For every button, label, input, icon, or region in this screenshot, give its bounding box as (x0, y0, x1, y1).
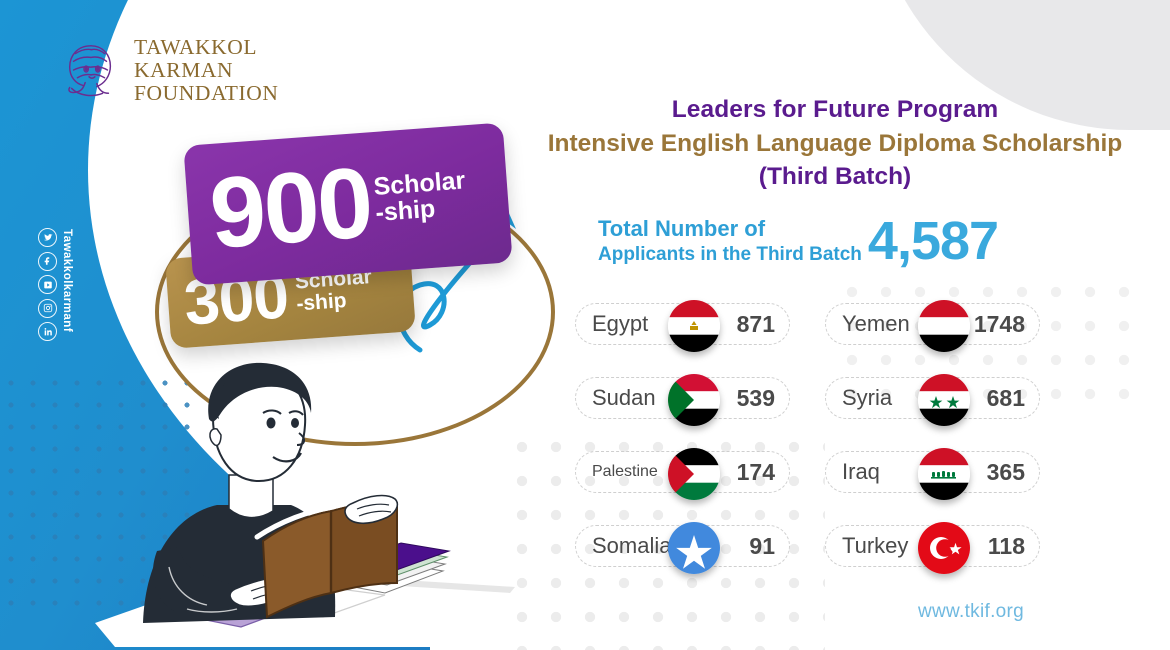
country-pill-syria: Syria 681 (825, 377, 1040, 419)
instagram-icon[interactable] (38, 299, 57, 318)
somalia-flag-icon (668, 522, 720, 574)
country-name-syria: Syria (826, 385, 892, 411)
logo-line-3: FOUNDATION (134, 82, 279, 105)
yemen-flag-icon (918, 300, 970, 352)
country-count-egypt: 871 (737, 311, 775, 338)
logo-wordmark: TAWAKKOL KARMAN FOUNDATION (134, 36, 279, 105)
country-pill-iraq: Iraq 365 (825, 451, 1040, 493)
country-count-syria: 681 (987, 385, 1025, 412)
country-name-somalia: Somalia (576, 533, 671, 559)
syria-flag-icon (918, 374, 970, 426)
badge-300-label-line2: -ship (296, 288, 374, 316)
country-name-turkey: Turkey (826, 533, 908, 559)
country-pill-somalia: Somalia 91 (575, 525, 790, 567)
social-icon-list (38, 228, 57, 341)
country-count-sudan: 539 (737, 385, 775, 412)
program-batch: (Third Batch) (530, 163, 1140, 191)
social-media-rail: Tawakkolkarmanf (38, 228, 73, 341)
turkey-flag-icon (918, 522, 970, 574)
country-name-yemen: Yemen (826, 311, 910, 337)
facebook-icon[interactable] (38, 252, 57, 271)
country-name-sudan: Sudan (576, 385, 656, 411)
linkedin-icon[interactable] (38, 322, 57, 341)
badge-900-number: 900 (207, 155, 374, 262)
country-count-somalia: 91 (749, 533, 775, 560)
palestine-flag-icon (668, 448, 720, 500)
sudan-flag-icon (668, 374, 720, 426)
student-reading-illustration (95, 355, 515, 650)
egypt-flag-icon (668, 300, 720, 352)
twitter-icon[interactable] (38, 228, 57, 247)
country-pill-palestine: Palestine 174 (575, 451, 790, 493)
country-name-egypt: Egypt (576, 311, 648, 337)
iraq-flag-icon (918, 448, 970, 500)
infographic-canvas: TAWAKKOL KARMAN FOUNDATION Tawakkolkarma… (0, 0, 1170, 650)
lion-head-icon (60, 40, 122, 102)
country-count-yemen: 1748 (974, 311, 1025, 338)
total-applicants-block: Total Number of Applicants in the Third … (598, 210, 998, 272)
country-count-turkey: 118 (988, 533, 1025, 560)
badge-900-label-line2: -ship (375, 193, 468, 226)
program-title: Leaders for Future Program (530, 96, 1140, 124)
total-label-line1: Total Number of (598, 215, 862, 243)
country-pill-yemen: Yemen 1748 (825, 303, 1040, 345)
total-label-line2: Applicants in the Third Batch (598, 243, 862, 267)
badge-900-label: Scholar -ship (373, 167, 469, 230)
country-name-iraq: Iraq (826, 459, 880, 485)
heading-block: Leaders for Future Program Intensive Eng… (530, 96, 1140, 191)
foundation-logo: TAWAKKOL KARMAN FOUNDATION (60, 36, 279, 105)
country-statistics-grid: Egypt 871 Yemen 1748 Sudan 539 Syria (575, 303, 1075, 567)
country-pill-sudan: Sudan 539 (575, 377, 790, 419)
social-handle: Tawakkolkarmanf (61, 229, 73, 332)
country-name-palestine: Palestine (576, 463, 658, 481)
country-count-iraq: 365 (987, 459, 1025, 486)
scholarship-badge-900: 900 Scholar -ship (183, 122, 512, 285)
country-pill-turkey: Turkey 118 (825, 525, 1040, 567)
program-subtitle: Intensive English Language Diploma Schol… (530, 130, 1140, 158)
total-applicants-label: Total Number of Applicants in the Third … (598, 215, 862, 266)
website-url[interactable]: www.tkif.org (918, 601, 1024, 623)
country-count-palestine: 174 (737, 459, 775, 486)
logo-line-1: TAWAKKOL (134, 36, 279, 59)
logo-line-2: KARMAN (134, 59, 279, 82)
youtube-icon[interactable] (38, 275, 57, 294)
country-pill-egypt: Egypt 871 (575, 303, 790, 345)
total-applicants-value: 4,587 (868, 210, 998, 272)
